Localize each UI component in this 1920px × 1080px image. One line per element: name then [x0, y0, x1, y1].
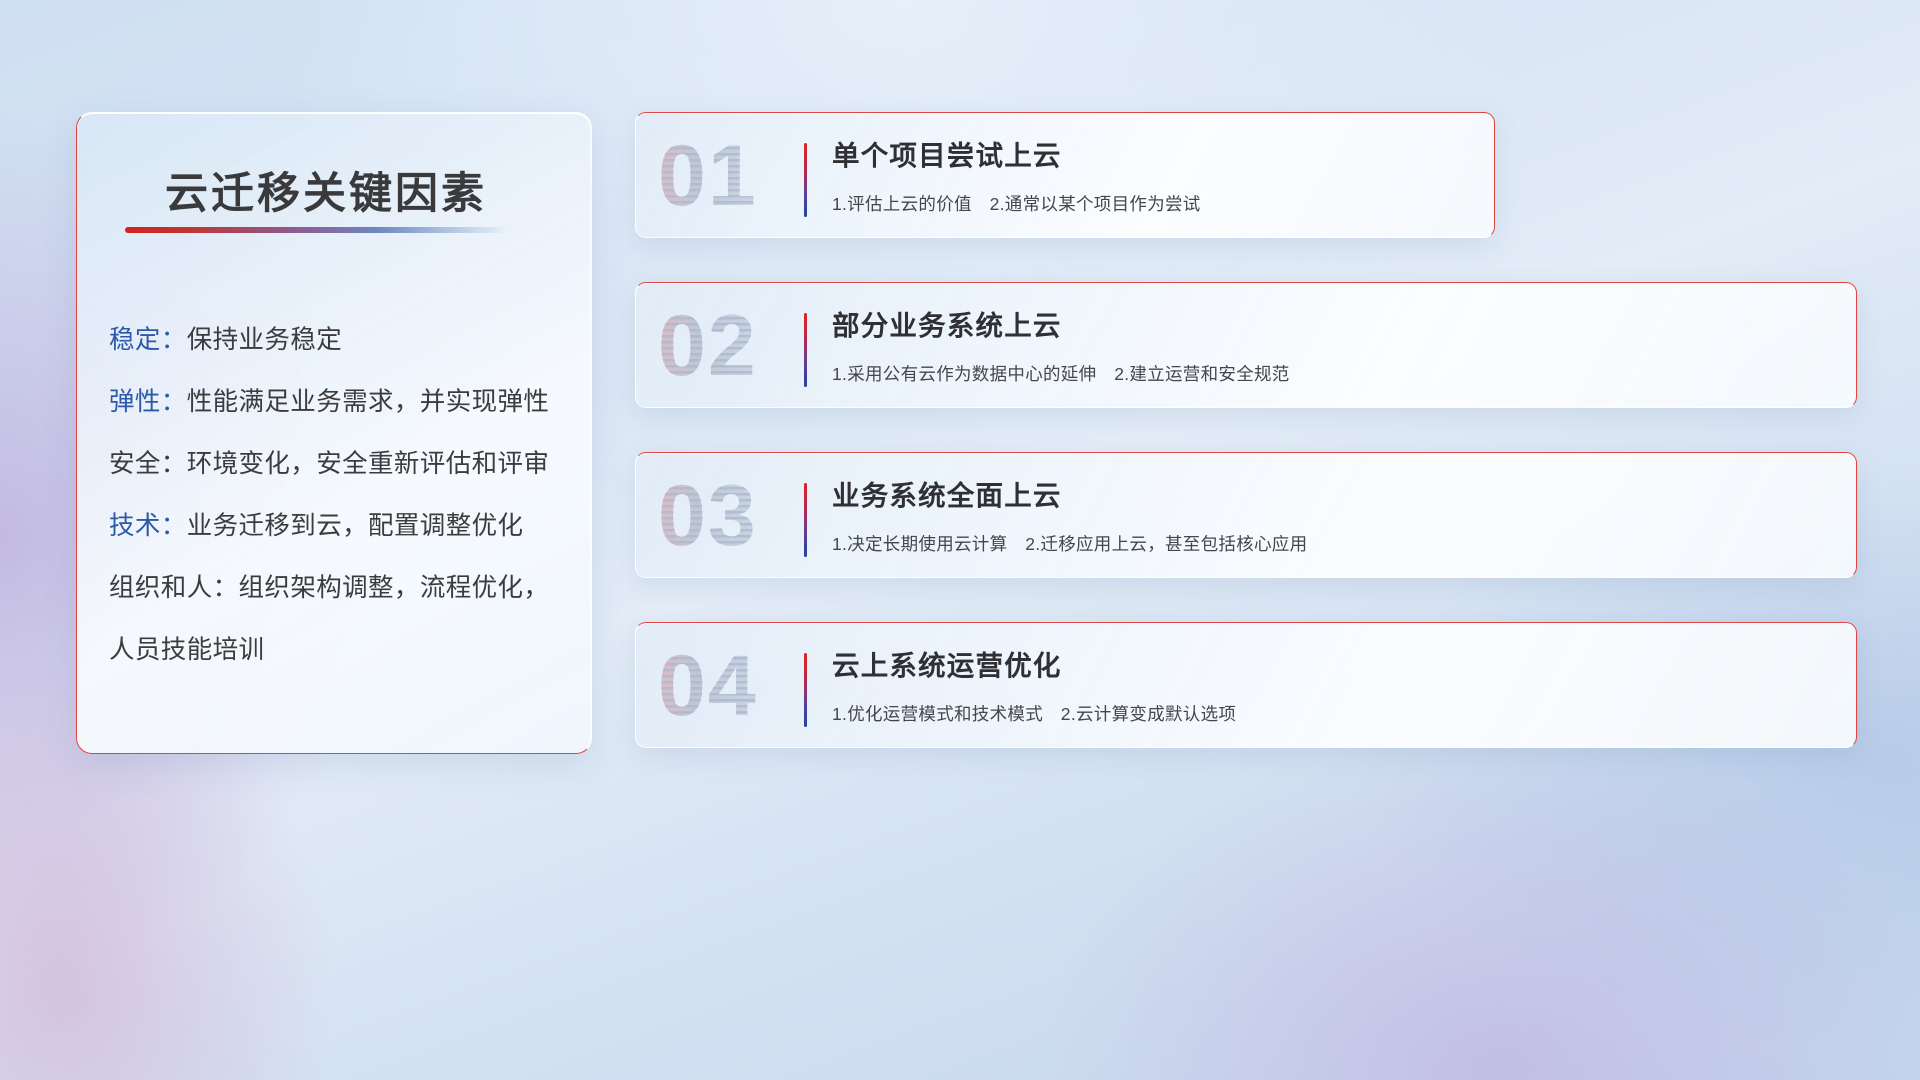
key-factor-text: 环境变化，安全重新评估和评审 [187, 450, 550, 478]
key-factor-label: 稳定： [109, 326, 187, 354]
step-description: 1.采用公有云作为数据中心的延伸 2.建立运营和安全规范 [832, 361, 1838, 386]
key-factors-list: 稳定：保持业务稳定弹性：性能满足业务需求，并实现弹性安全：环境变化，安全重新评估… [109, 309, 569, 681]
migration-step-card[interactable]: 04云上系统运营优化1.优化运营模式和技术模式 2.云计算变成默认选项 [635, 622, 1857, 748]
step-number: 02 [658, 293, 818, 399]
step-description: 1.优化运营模式和技术模式 2.云计算变成默认选项 [832, 701, 1838, 726]
step-description: 1.评估上云的价值 2.通常以某个项目作为尝试 [832, 191, 1476, 216]
key-factor-text: 组织架构调整，流程优化， [239, 574, 550, 602]
step-accent-bar [804, 483, 807, 557]
key-factor-label: 弹性： [109, 388, 187, 416]
page-title: 云迁移关键因素 [165, 159, 487, 221]
step-number: 03 [658, 463, 818, 569]
title-underline-rule [125, 227, 506, 233]
key-factor-text: 人员技能培训 [109, 636, 264, 664]
key-factor-item: 安全：环境变化，安全重新评估和评审 [109, 433, 569, 495]
step-body: 部分业务系统上云1.采用公有云作为数据中心的延伸 2.建立运营和安全规范 [832, 303, 1838, 386]
key-factor-label: 技术： [109, 512, 187, 540]
key-factor-label: 安全： [109, 450, 187, 478]
step-body: 业务系统全面上云1.决定长期使用云计算 2.迁移应用上云，甚至包括核心应用 [832, 473, 1838, 556]
migration-steps-list: 01单个项目尝试上云1.评估上云的价值 2.通常以某个项目作为尝试02部分业务系… [635, 112, 1857, 792]
key-factor-text: 保持业务稳定 [187, 326, 342, 354]
key-factor-item: 技术：业务迁移到云，配置调整优化 [109, 495, 569, 557]
slide-canvas: 云迁移关键因素 稳定：保持业务稳定弹性：性能满足业务需求，并实现弹性安全：环境变… [0, 0, 1920, 1080]
step-title: 单个项目尝试上云 [832, 133, 1476, 173]
key-factor-item: 组织和人：组织架构调整，流程优化， [109, 557, 569, 619]
key-factor-label: 组织和人： [109, 574, 239, 602]
key-factor-item: 人员技能培训 [109, 619, 569, 681]
step-title: 云上系统运营优化 [832, 643, 1838, 683]
key-factor-item: 弹性：性能满足业务需求，并实现弹性 [109, 371, 569, 433]
key-factor-item: 稳定：保持业务稳定 [109, 309, 569, 371]
key-factor-text: 业务迁移到云，配置调整优化 [187, 512, 524, 540]
step-accent-bar [804, 313, 807, 387]
key-factor-text: 性能满足业务需求，并实现弹性 [187, 388, 550, 416]
step-body: 云上系统运营优化1.优化运营模式和技术模式 2.云计算变成默认选项 [832, 643, 1838, 726]
step-title: 部分业务系统上云 [832, 303, 1838, 343]
step-description: 1.决定长期使用云计算 2.迁移应用上云，甚至包括核心应用 [832, 531, 1838, 556]
step-number: 04 [658, 633, 818, 739]
migration-step-card[interactable]: 01单个项目尝试上云1.评估上云的价值 2.通常以某个项目作为尝试 [635, 112, 1495, 238]
migration-step-card[interactable]: 02部分业务系统上云1.采用公有云作为数据中心的延伸 2.建立运营和安全规范 [635, 282, 1857, 408]
step-title: 业务系统全面上云 [832, 473, 1838, 513]
migration-step-card[interactable]: 03业务系统全面上云1.决定长期使用云计算 2.迁移应用上云，甚至包括核心应用 [635, 452, 1857, 578]
key-factors-panel: 云迁移关键因素 稳定：保持业务稳定弹性：性能满足业务需求，并实现弹性安全：环境变… [76, 112, 592, 754]
step-accent-bar [804, 653, 807, 727]
step-number: 01 [658, 123, 818, 229]
step-accent-bar [804, 143, 807, 217]
step-body: 单个项目尝试上云1.评估上云的价值 2.通常以某个项目作为尝试 [832, 133, 1476, 216]
